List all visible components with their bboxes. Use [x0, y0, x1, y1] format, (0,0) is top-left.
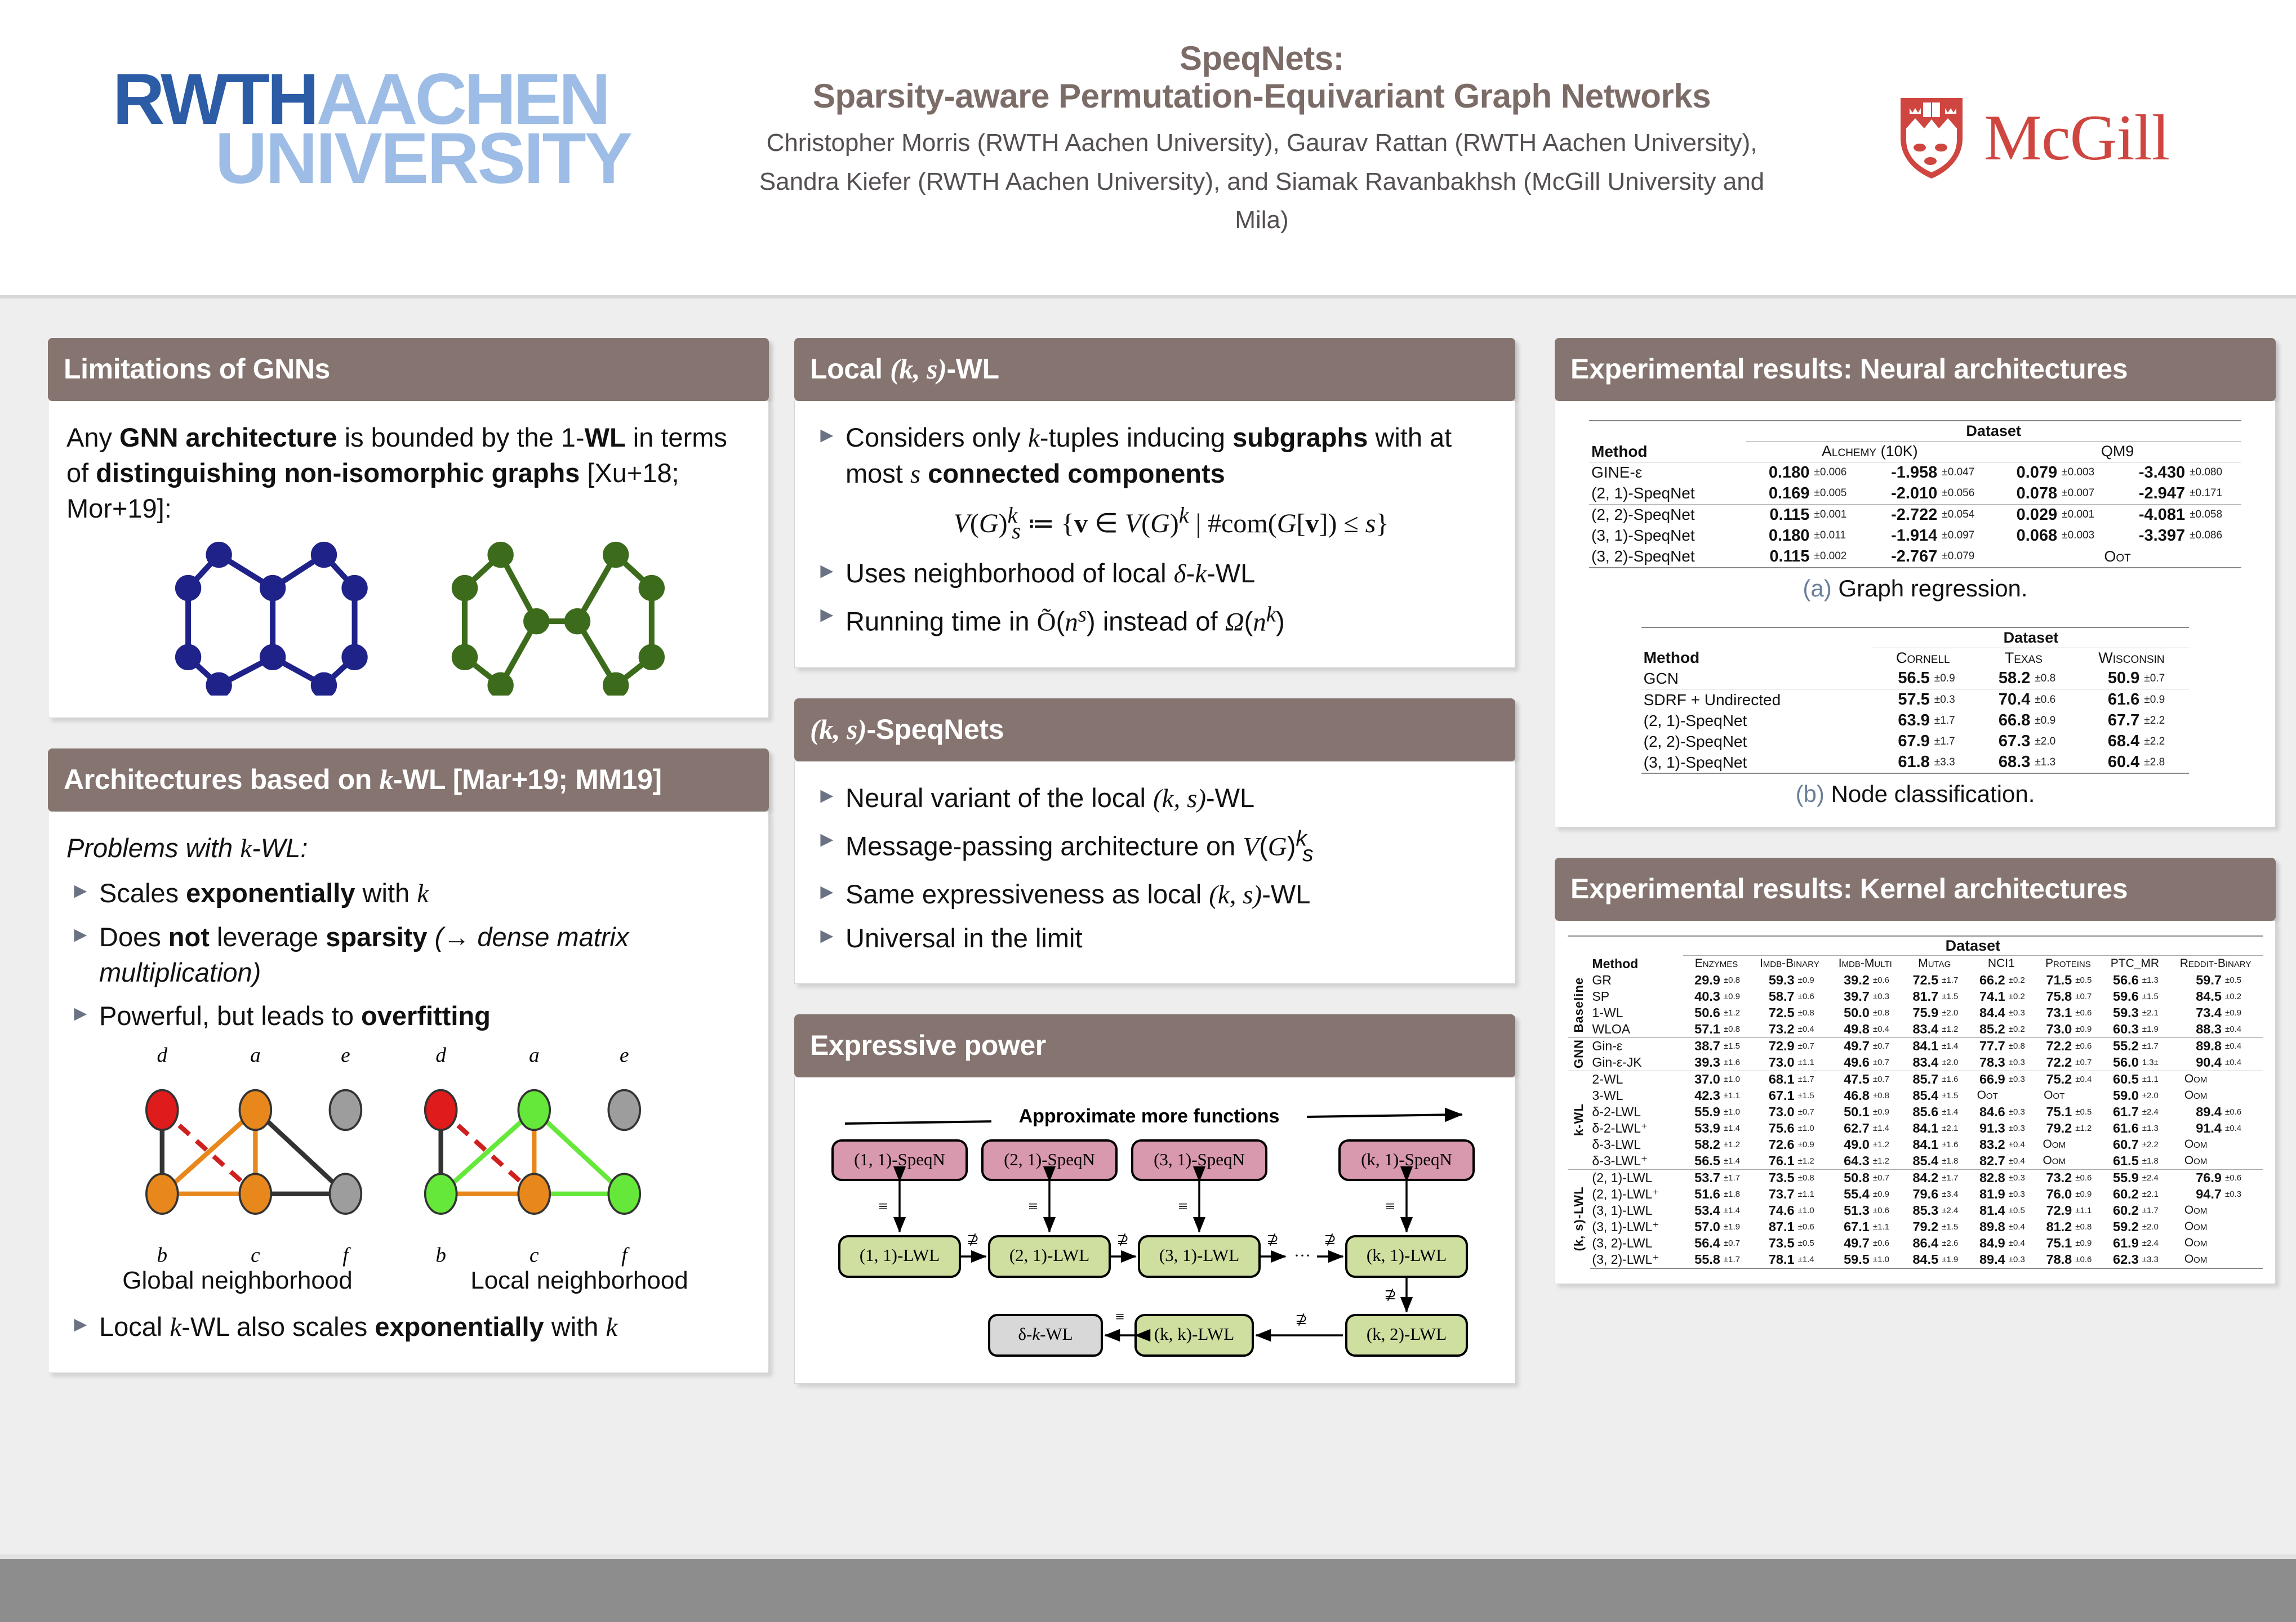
- table-cell-value: 76.1: [1750, 1153, 1796, 1170]
- table-cell-error: ±1.7: [1722, 1251, 1750, 1268]
- table-cell-value: 57.0: [1683, 1219, 1722, 1235]
- table-cell-value: 78.1: [1750, 1251, 1796, 1268]
- table-cell-value: 82.7: [1968, 1153, 2007, 1170]
- table-cell-error: ±0.3: [2007, 1071, 2035, 1088]
- kernel-group-label: (k, s)-LWL: [1568, 1169, 1590, 1268]
- graph-node-label: f: [342, 1244, 351, 1267]
- table-cell-error: ±2.0: [1940, 1054, 1968, 1071]
- table-cell-error: ±0.054: [1939, 504, 1994, 525]
- table-cell-error: ±1.4: [1940, 1037, 1968, 1054]
- table-cell-value: 73.7: [1750, 1186, 1796, 1202]
- table-cell-value: 87.1: [1750, 1219, 1796, 1235]
- table-cell-error: ±1.2: [1940, 1021, 1968, 1038]
- table-cell-error: ±1.2: [1722, 1137, 1750, 1153]
- table-cell-value: 60.5: [2102, 1071, 2141, 1088]
- table-cell-value: 79.2: [1901, 1219, 1940, 1235]
- table-cell-value: 72.2: [2035, 1054, 2073, 1071]
- table-cell-error: ±0.8: [1796, 1169, 1830, 1186]
- table-cell-value: 55.4: [1829, 1186, 1871, 1202]
- table-cell-value: 0.115: [1746, 546, 1812, 568]
- table-cell-error: ±0.4: [2073, 1071, 2101, 1088]
- table-cell-value: 73.2: [2035, 1169, 2073, 1186]
- table-cell-value: 55.8: [1683, 1251, 1722, 1268]
- table-cell-error: ±1.4: [1940, 1104, 1968, 1120]
- table-cell-method: δ-3-LWL: [1590, 1137, 1683, 1153]
- table-cell-value: 67.9: [1873, 731, 1932, 752]
- table-cell-error: ±1.5: [1940, 1219, 1968, 1235]
- author-list: Christopher Morris (RWTH Aachen Universi…: [665, 124, 1859, 239]
- table-cell-value: 83.4: [1901, 1054, 1940, 1071]
- card-title-ks-speqnets: (k, s)-SpeqNets: [794, 698, 1515, 761]
- table-row: WLOA57.1±0.873.2±0.449.8±0.483.4±1.285.2…: [1568, 1021, 2263, 1038]
- classification-dataset-cornell: Cornell: [1873, 648, 1974, 668]
- table-cell-error: ±0.9: [2032, 710, 2073, 731]
- table-cell-error: ±1.1: [1871, 1219, 1901, 1235]
- list-item: Considers only k-tuples inducing subgrap…: [813, 420, 1497, 546]
- kernel-dataset-header-3: Mutag: [1901, 956, 1968, 972]
- table-cell-value: 67.3: [1973, 731, 2032, 752]
- table-cell-error: ±0.9: [1722, 988, 1750, 1005]
- table-cell-error: ±0.9: [1871, 1104, 1901, 1120]
- table-cell-error: ±1.5: [1940, 988, 1968, 1005]
- table-cell-error: ±0.6: [2073, 1037, 2101, 1054]
- card-body-ks-speqnets: Neural variant of the local (k, s)-WL Me…: [794, 761, 1515, 984]
- table-cell-error: ±0.005: [1812, 483, 1866, 505]
- graph-node-label: f: [621, 1244, 630, 1267]
- table-cell-na: Oom: [2168, 1219, 2223, 1235]
- classification-dataset-texas: Texas: [1973, 648, 2074, 668]
- graph-node-label: c: [251, 1244, 260, 1267]
- table-cell-value: 94.7: [2168, 1186, 2223, 1202]
- table-cell-error: ±1.7: [1796, 1071, 1830, 1088]
- table-row: (3, 1)-SpeqNet61.8±3.368.3±1.360.4±2.8: [1641, 752, 2190, 773]
- table-cell-na: Oom: [2168, 1202, 2223, 1219]
- table-cell-error: ±1.0: [1722, 1071, 1750, 1088]
- table-cell-error: ±0.9: [1871, 1186, 1901, 1202]
- regression-group-header: Dataset: [1746, 421, 2241, 442]
- table-cell-error: ±1.3: [2032, 752, 2073, 773]
- speqnets-title-suffix: -SpeqNets: [866, 714, 1004, 745]
- table-cell-error: ±1.7: [1932, 710, 1973, 731]
- table-graph-regression: Dataset Method Alchemy (10K) QM9 GINE-ε0…: [1589, 420, 2241, 568]
- table-cell-value: 53.7: [1683, 1169, 1722, 1186]
- list-item: Powerful, but leads to overfitting: [66, 999, 750, 1034]
- table-row: Dataset: [1568, 936, 2263, 956]
- table-cell-error: ±3.3: [1932, 752, 1973, 773]
- table-cell-method: (3, 1)-SpeqNet: [1641, 752, 1873, 773]
- kernel-rows: BaselineGR29.9±0.859.3±0.939.2±0.672.5±1…: [1568, 972, 2263, 1268]
- table-cell-error: ±0.7: [1871, 1037, 1901, 1054]
- table-cell-error: ±0.3: [2007, 1120, 2035, 1137]
- table-cell-value: 67.7: [2074, 710, 2142, 731]
- architectures-intro: Problems with k-WL:: [66, 831, 750, 867]
- table-cell-error: ±1.1: [1796, 1054, 1830, 1071]
- table-row: (3, 2)-LWL56.4±0.773.5±0.549.7±0.686.4±2…: [1568, 1235, 2263, 1251]
- table-cell-error: ±0.7: [1871, 1169, 1901, 1186]
- table-cell-error: ±0.047: [1939, 462, 1994, 483]
- table-cell-value: 84.9: [1968, 1235, 2007, 1251]
- table-cell-error: ±0.8: [2007, 1037, 2035, 1054]
- table-cell-error: ±0.8: [1796, 1005, 1830, 1021]
- table-cell-method: δ-2-LWL⁺: [1590, 1120, 1683, 1137]
- table-cell-na: Oom: [2168, 1235, 2223, 1251]
- table-cell-method: (2, 2)-SpeqNet: [1589, 504, 1746, 525]
- table-cell-na: Oot: [1968, 1088, 2007, 1104]
- table-cell-error: ±0.7: [1722, 1235, 1750, 1251]
- table-cell-error: ±1.0: [1796, 1120, 1830, 1137]
- graph-node-label: c: [529, 1244, 539, 1267]
- table-cell-error: ±2.2: [2141, 1137, 2168, 1153]
- equiv-symbol: ≡: [1029, 1197, 1038, 1216]
- figure-caption-local: Local neighborhood: [408, 1267, 750, 1295]
- table-cell-error: ±0.7: [2142, 668, 2189, 689]
- classification-rows: GCN56.5±0.958.2±0.850.9±0.7SDRF + Undire…: [1641, 668, 2190, 773]
- table-cell-error: ±0.002: [1812, 546, 1866, 568]
- table-cell-value: 81.2: [2035, 1219, 2073, 1235]
- table-cell-error: ±1.4: [1722, 1153, 1750, 1170]
- arch-title-prefix: Architectures based on: [64, 764, 379, 795]
- table-cell-value: 62.3: [2102, 1251, 2141, 1268]
- table-cell-error: ±0.9: [2142, 689, 2189, 711]
- graph-node-label: d: [157, 1044, 167, 1067]
- table-cell-error: ±1.4: [1796, 1251, 1830, 1268]
- table-row: k-WL2-WL37.0±1.068.1±1.747.5±0.785.7±1.6…: [1568, 1071, 2263, 1088]
- table-cell-value: -2.010: [1866, 483, 1939, 505]
- table-cell-error: [2223, 1137, 2263, 1153]
- arch-title-suffix: -WL [Mar+19; MM19]: [393, 764, 662, 795]
- table-cell-error: ±1.5: [1796, 1088, 1830, 1104]
- table-cell-error: ±1.4: [1871, 1120, 1901, 1137]
- table-row: (2, 1)-LWL⁺51.6±1.873.7±1.155.4±0.979.6±…: [1568, 1186, 2263, 1202]
- table-cell-value: 61.5: [2102, 1153, 2141, 1170]
- table-cell-value: 88.3: [2168, 1021, 2223, 1038]
- table-cell-na: Oot: [2035, 1088, 2073, 1104]
- local-ks-wl-bullet-list: Considers only k-tuples inducing subgrap…: [813, 420, 1497, 640]
- table-cell-error: [2007, 1088, 2035, 1104]
- table-cell-value: 0.115: [1746, 504, 1812, 525]
- diagram-ellipsis: ···: [1294, 1246, 1311, 1265]
- table-cell-error: ±1.3: [2141, 1120, 2168, 1137]
- table-cell-value: 68.1: [1750, 1071, 1796, 1088]
- kernel-group-label: k-WL: [1568, 1071, 1590, 1169]
- table-cell-error: ±1.3: [2141, 972, 2168, 988]
- table-cell-error: ±1.7: [1940, 1169, 1968, 1186]
- classification-caption-text: Node classification.: [1831, 781, 2035, 807]
- diagram-node-speqn-k-1: (k, 1)-SpeqN: [1361, 1149, 1452, 1169]
- strict-symbol: ⊉: [1295, 1311, 1307, 1327]
- table-cell-error: ±1.6: [1722, 1054, 1750, 1071]
- poster-title-line2: Sparsity-aware Permutation-Equivariant G…: [665, 77, 1859, 115]
- table-cell-method: SDRF + Undirected: [1641, 689, 1873, 711]
- table-cell-error: ±1.5: [2141, 988, 2168, 1005]
- table-cell-error: ±1.7: [2141, 1202, 2168, 1219]
- regression-method-header: Method: [1589, 442, 1746, 462]
- card-body-results-kernel: Dataset Method EnzymesImdb-BinaryImdb-Mu…: [1555, 921, 2276, 1284]
- mcgill-logo: McGill: [1898, 84, 2248, 191]
- table-cell-error: ±0.080: [2187, 462, 2241, 483]
- rwth-logo-university-text: UNIVERSITY: [215, 130, 631, 189]
- table-cell-value: 59.3: [2102, 1005, 2141, 1021]
- table-cell-method: (3, 2)-LWL: [1590, 1235, 1683, 1251]
- table-cell-error: ±0.8: [1871, 1088, 1901, 1104]
- card-title-limitations: Limitations of GNNs: [48, 338, 769, 401]
- card-body-results-neural: Dataset Method Alchemy (10K) QM9 GINE-ε0…: [1555, 401, 2276, 827]
- table-cell-method: GCN: [1641, 668, 1873, 689]
- table-cell-error: [2073, 1088, 2101, 1104]
- table-cell-value: 49.6: [1829, 1054, 1871, 1071]
- table-cell-value: 85.3: [1901, 1202, 1940, 1219]
- table-cell-value: 59.6: [2102, 988, 2141, 1005]
- table-cell-value: 62.7: [1829, 1120, 1871, 1137]
- table-cell-na: Oom: [2035, 1137, 2073, 1153]
- graph-node-label: e: [620, 1044, 629, 1067]
- regression-dataset-alchemy: Alchemy (10K): [1746, 442, 1994, 462]
- table-cell-error: ±0.001: [2059, 504, 2113, 525]
- table-cell-value: 78.3: [1968, 1054, 2007, 1071]
- table-cell-error: ±1.5: [1940, 1088, 1968, 1104]
- card-limitations-of-gnns: Limitations of GNNs Any GNN architecture…: [48, 338, 769, 718]
- table-cell-value: 40.3: [1683, 988, 1722, 1005]
- table-cell-value: 59.0: [2102, 1088, 2141, 1104]
- diagram-node-delta-k-wl: δ-k-WL: [1018, 1324, 1073, 1344]
- table-cell-error: ±0.171: [2187, 483, 2241, 505]
- table-cell-error: ±0.4: [1871, 1021, 1901, 1038]
- table-cell-error: ±0.4: [2007, 1235, 2035, 1251]
- table-cell-value: 76.9: [2168, 1169, 2223, 1186]
- table-cell-error: ±0.9: [2073, 1021, 2101, 1038]
- equiv-symbol: ≡: [1178, 1197, 1188, 1216]
- table-cell-error: ±0.3: [2007, 1104, 2035, 1120]
- table-cell-error: ±0.5: [2073, 1104, 2101, 1120]
- table-cell-value: 58.7: [1750, 988, 1796, 1005]
- table-row: GCN56.5±0.958.2±0.850.9±0.7: [1641, 668, 2190, 689]
- table-cell-method: 3-WL: [1590, 1088, 1683, 1104]
- table-cell-error: ±0.3: [2007, 1005, 2035, 1021]
- list-item: Running time in Õ(ns) instead of Ω(nk): [813, 600, 1497, 640]
- speqnets-bullet-list: Neural variant of the local (k, s)-WL Me…: [813, 781, 1497, 956]
- table-cell-method: (3, 1)-LWL: [1590, 1202, 1683, 1219]
- table-row: (2, 2)-SpeqNet0.115±0.001-2.722±0.0540.0…: [1589, 504, 2241, 525]
- table-cell-error: ±0.6: [1796, 1219, 1830, 1235]
- table-cell-value: 66.9: [1968, 1071, 2007, 1088]
- table-cell-error: [2223, 1153, 2263, 1170]
- table-cell-error: ±0.8: [2073, 1219, 2101, 1235]
- list-item: Uses neighborhood of local δ-k-WL: [813, 556, 1497, 592]
- card-results-kernel: Experimental results: Kernel architectur…: [1555, 858, 2276, 1284]
- table-cell-error: ±0.6: [2223, 1104, 2263, 1120]
- table-cell-error: ±2.4: [2141, 1169, 2168, 1186]
- table-cell-error: ±0.7: [2073, 1054, 2101, 1071]
- table-cell-value: 78.8: [2035, 1251, 2073, 1268]
- table-cell-na: Oom: [2168, 1088, 2223, 1104]
- table-cell-error: ±2.1: [2141, 1005, 2168, 1021]
- table-cell-error: ±1.5: [1722, 1037, 1750, 1054]
- table-cell-error: ±1.9: [2141, 1021, 2168, 1038]
- diagram-node-lwl-2-1: (2, 1)-LWL: [1009, 1245, 1089, 1265]
- table-cell-method: (2, 1)-SpeqNet: [1589, 483, 1746, 505]
- table-cell-error: ±0.3: [1871, 988, 1901, 1005]
- table-cell-method: Gin-ε: [1590, 1037, 1683, 1054]
- table-cell-error: ±0.097: [1939, 525, 1994, 546]
- kernel-group-label: GNN: [1568, 1037, 1590, 1071]
- page-title: SpeqNets: Sparsity-aware Permutation-Equ…: [665, 39, 1859, 115]
- graph-node-label: b: [435, 1244, 446, 1267]
- table-cell-error: ±1.0: [1796, 1202, 1830, 1219]
- strict-symbol: ⊉: [1324, 1231, 1336, 1247]
- table-cell-error: ±0.011: [1812, 525, 1866, 546]
- table-cell-method: (2, 1)-SpeqNet: [1641, 710, 1873, 731]
- table-cell-error: ±1.7: [2141, 1037, 2168, 1054]
- table-row: 3-WL42.3±1.167.1±1.546.8±0.885.4±1.5OotO…: [1568, 1088, 2263, 1104]
- table-cell-error: ±1.2: [1871, 1137, 1901, 1153]
- graph-node-label: a: [529, 1044, 540, 1067]
- graph-node-label: d: [435, 1044, 446, 1067]
- kernel-dataset-header-4: NCI1: [1968, 956, 2035, 972]
- table-cell-error: ±1.9: [1722, 1219, 1750, 1235]
- list-item: Universal in the limit: [813, 921, 1497, 956]
- table-cell-value: 91.3: [1968, 1120, 2007, 1137]
- table-cell-error: [2223, 1235, 2263, 1251]
- table-cell-error: ±3.3: [2141, 1251, 2168, 1268]
- table-cell-error: ±0.8: [1722, 972, 1750, 988]
- table-cell-na: Oom: [2168, 1137, 2223, 1153]
- table-cell-value: 84.5: [2168, 988, 2223, 1005]
- table-cell-value: 89.8: [1968, 1219, 2007, 1235]
- table-cell-value: 89.4: [2168, 1104, 2223, 1120]
- table-row: (k, s)-LWL(2, 1)-LWL53.7±1.773.5±0.850.8…: [1568, 1169, 2263, 1186]
- diagram-node-lwl-1-1: (1, 1)-LWL: [860, 1245, 940, 1265]
- diagram-node-speqn-3-1: (3, 1)-SpeqN: [1154, 1149, 1245, 1169]
- table-cell-value: 50.0: [1829, 1005, 1871, 1021]
- table-cell-value: 76.0: [2035, 1186, 2073, 1202]
- table-cell-value: 29.9: [1683, 972, 1722, 988]
- table-cell-value: 57.1: [1683, 1021, 1722, 1038]
- table-cell-value: 83.2: [1968, 1137, 2007, 1153]
- strict-symbol: ⊉: [1266, 1231, 1279, 1247]
- table-cell-value: 89.4: [1968, 1251, 2007, 1268]
- table-cell-error: ±3.4: [1940, 1186, 1968, 1202]
- table-cell-value: 84.1: [1901, 1137, 1940, 1153]
- mcgill-shield-icon: [1898, 96, 1965, 180]
- table-cell-error: ±2.4: [2141, 1235, 2168, 1251]
- table-cell-value: 49.7: [1829, 1235, 1871, 1251]
- equiv-symbol: ≡: [1386, 1197, 1395, 1216]
- table-cell-error: ±0.3: [2223, 1186, 2263, 1202]
- table-cell-value: -1.914: [1866, 525, 1939, 546]
- list-item: Does not leverage sparsity (→ dense matr…: [66, 920, 750, 991]
- table-cell-method: δ-2-LWL: [1590, 1104, 1683, 1120]
- table-cell-error: ±0.4: [2223, 1021, 2263, 1038]
- table-cell-value: 39.3: [1683, 1054, 1722, 1071]
- table-cell-error: ±0.4: [2223, 1037, 2263, 1054]
- table-cell-value: 81.4: [1968, 1202, 2007, 1219]
- table-cell-error: ±1.1: [1796, 1186, 1830, 1202]
- table-cell-error: ±0.6: [2032, 689, 2073, 711]
- card-body-expressive-power: Approximate more functions (1, 1)-SpeqN …: [794, 1077, 1515, 1384]
- table-cell-error: ±1.0: [1722, 1104, 1750, 1120]
- table-cell-value: 0.180: [1746, 462, 1812, 483]
- table-cell-method: (3, 1)-LWL⁺: [1590, 1219, 1683, 1235]
- architectures-closing-list: Local k-WL also scales exponentially wit…: [66, 1309, 750, 1345]
- table-cell-error: ±0.058: [2187, 504, 2241, 525]
- table-cell-error: ±0.9: [1932, 668, 1973, 689]
- table-cell-error: ±0.6: [2073, 1251, 2101, 1268]
- table-cell-value: 68.4: [2074, 731, 2142, 752]
- table-row: δ-2-LWL⁺53.9±1.475.6±1.062.7±1.484.1±2.1…: [1568, 1120, 2263, 1137]
- expressive-power-diagram: Approximate more functions (1, 1)-SpeqN …: [813, 1097, 1497, 1361]
- table-cell-error: ±0.5: [2073, 972, 2101, 988]
- table-row: Method Alchemy (10K) QM9: [1589, 442, 2241, 462]
- graph-node-label: e: [341, 1044, 350, 1067]
- regression-caption-number: (a): [1803, 575, 1831, 601]
- table-cell-value: 56.6: [2102, 972, 2141, 988]
- table-cell-value: 53.4: [1683, 1202, 1722, 1219]
- kernel-dataset-header-7: Reddit-Binary: [2168, 956, 2263, 972]
- table-cell-error: ±0.9: [2073, 1235, 2101, 1251]
- kernel-dataset-header-2: Imdb-Multi: [1829, 956, 1901, 972]
- local-ks-wl-formula: V(G)ks ≔ {v ∈ V(G)k | #com(G[v]) ≤ s}: [846, 500, 1497, 546]
- table-cell-value: 61.7: [2102, 1104, 2141, 1120]
- diagram-node-lwl-k-2: (k, 2)-LWL: [1367, 1324, 1447, 1344]
- table-cell-value: 73.4: [2168, 1005, 2223, 1021]
- table-row: Method Cornell Texas Wisconsin: [1641, 648, 2190, 668]
- table-row: δ-3-LWL58.2±1.272.6±0.949.0±1.284.1±1.68…: [1568, 1137, 2263, 1153]
- table-cell-error: ±1.7: [1932, 731, 1973, 752]
- table-cell-value: 68.3: [1973, 752, 2032, 773]
- table-cell-method: GR: [1590, 972, 1683, 988]
- table-row: δ-2-LWL55.9±1.073.0±0.750.1±0.985.6±1.48…: [1568, 1104, 2263, 1120]
- card-title-results-neural: Experimental results: Neural architectur…: [1555, 338, 2276, 401]
- list-item: Same expressiveness as local (k, s)-WL: [813, 877, 1497, 913]
- table-cell-value: 55.9: [2102, 1169, 2141, 1186]
- table-cell-value: 79.2: [2035, 1120, 2073, 1137]
- table-row: GINE-ε0.180±0.006-1.958±0.0470.079±0.003…: [1589, 462, 2241, 483]
- table-cell-error: ±0.003: [2059, 462, 2113, 483]
- table-cell-na: Oom: [2168, 1153, 2223, 1170]
- diagram-node-lwl-3-1: (3, 1)-LWL: [1159, 1245, 1239, 1265]
- table-cell-na: Oom: [2168, 1071, 2223, 1088]
- table-cell-error: ±1.7: [1722, 1169, 1750, 1186]
- table-cell-method: δ-3-LWL⁺: [1590, 1153, 1683, 1170]
- table-cell-method: 1-WL: [1590, 1005, 1683, 1021]
- poster-header: RWTHAACHEN UNIVERSITY SpeqNets: Sparsity…: [0, 0, 2296, 298]
- table-cell-error: ±0.4: [1796, 1021, 1830, 1038]
- table-cell-value: 0.180: [1746, 525, 1812, 546]
- table-cell-error: ±0.9: [2223, 1005, 2263, 1021]
- table-cell-error: ±2.0: [2141, 1219, 2168, 1235]
- table-cell-value: 61.9: [2102, 1235, 2141, 1251]
- table-cell-value: 77.7: [1968, 1037, 2007, 1054]
- table-cell-error: ±2.4: [1940, 1202, 1968, 1219]
- table-row: δ-3-LWL⁺56.5±1.476.1±1.264.3±1.285.4±1.8…: [1568, 1153, 2263, 1170]
- table-cell-error: ±1.1: [2073, 1202, 2101, 1219]
- table-row: Dataset: [1589, 421, 2241, 442]
- card-local-ks-wl: Local (k, s)-WL Considers only k-tuples …: [794, 338, 1515, 668]
- table-cell-value: 70.4: [1973, 689, 2032, 711]
- table-cell-value: 81.7: [1901, 988, 1940, 1005]
- table-cell-error: ±0.5: [1796, 1235, 1830, 1251]
- table-cell-error: ±0.3: [1932, 689, 1973, 711]
- table-cell-value: 72.9: [2035, 1202, 2073, 1219]
- table-cell-value: 72.2: [2035, 1037, 2073, 1054]
- card-body-local-ks-wl: Considers only k-tuples inducing subgrap…: [794, 401, 1515, 668]
- card-architectures-kwl: Architectures based on k-WL [Mar+19; MM1…: [48, 748, 769, 1373]
- table-cell-error: [2223, 1071, 2263, 1088]
- column-right: Experimental results: Neural architectur…: [1555, 338, 2276, 1314]
- table-cell-error: ±0.7: [2073, 988, 2101, 1005]
- table-cell-error: ±0.2: [2223, 988, 2263, 1005]
- architectures-bullet-list: Scales exponentially with k Does not lev…: [66, 876, 750, 1034]
